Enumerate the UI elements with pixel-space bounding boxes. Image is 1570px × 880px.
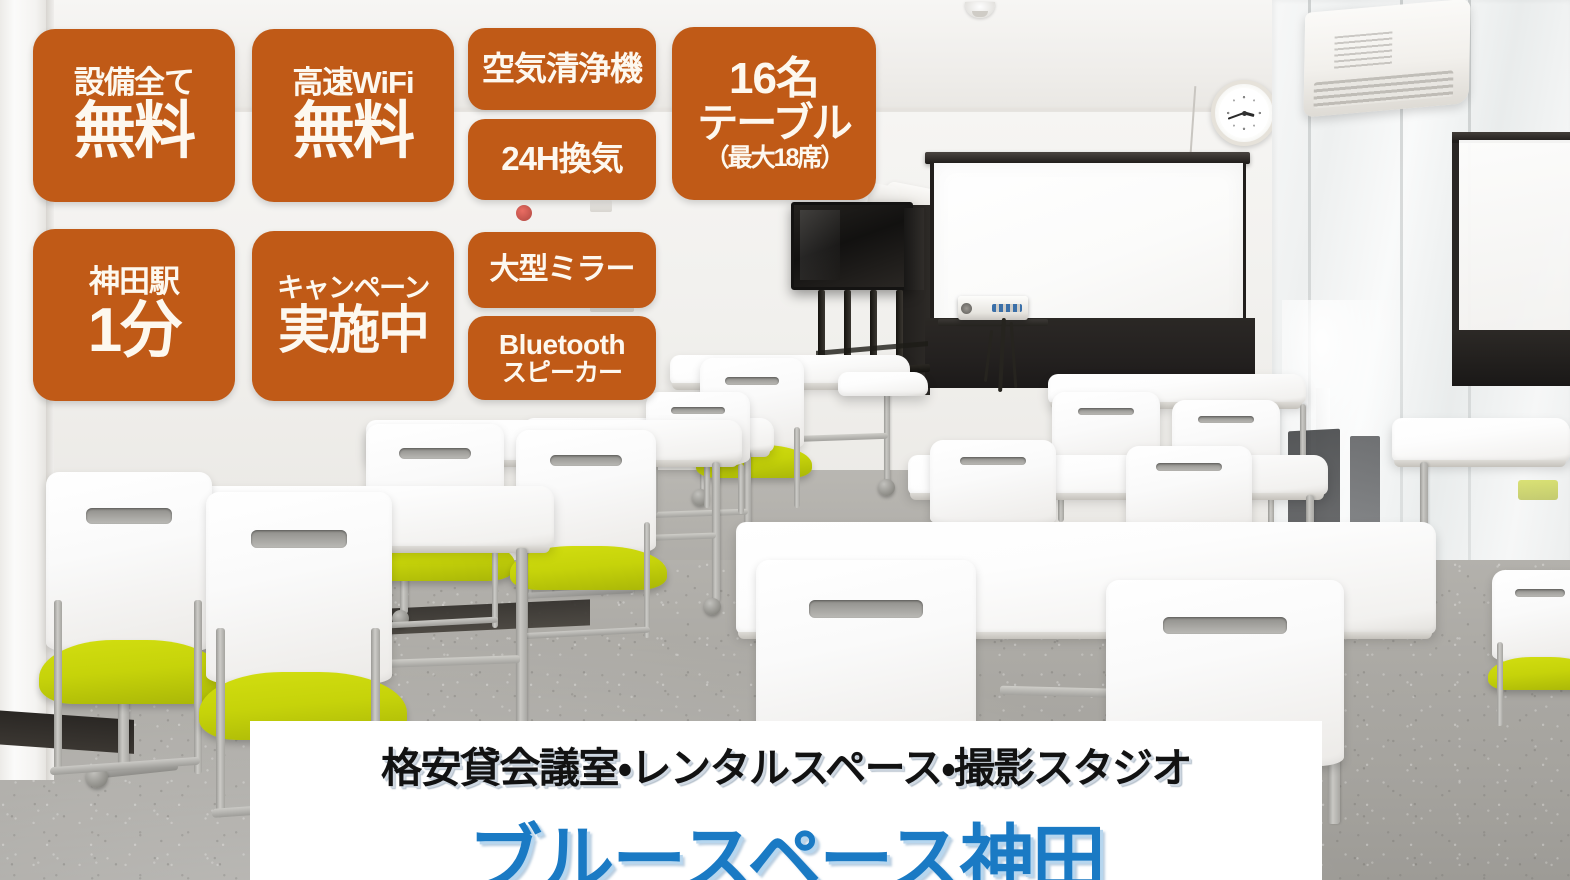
chair-handle-slot: [86, 508, 172, 524]
badge-station-distance[interactable]: 神田駅 1分: [33, 229, 235, 401]
clock-center-pin: [1242, 111, 1247, 116]
air-conditioner-vent: [1314, 70, 1454, 108]
feature-badges: 設備全て 無料 高速WiFi 無料 空気清浄機 24H換気 16名 テーブル （…: [0, 0, 700, 420]
table-caster: [878, 479, 895, 496]
chair-handle-slot: [550, 455, 623, 466]
table-caster: [704, 598, 721, 615]
chair-backrest: [1126, 446, 1252, 533]
chair-handle-slot: [1198, 416, 1254, 423]
table-leg: [516, 548, 527, 744]
table-top: [0, 700, 200, 760]
projector-lens-icon: [961, 303, 972, 314]
promo-banner: 設備全て 無料 高速WiFi 無料 空気清浄機 24H換気 16名 テーブル （…: [0, 0, 1570, 880]
badge-capacity-table: テーブル: [697, 102, 851, 145]
badge-large-mirror[interactable]: 大型ミラー: [468, 232, 656, 308]
badge-main-label: 無料: [74, 100, 194, 164]
badge-label: 空気清浄機: [482, 52, 642, 86]
badge-label-line1: Bluetooth: [499, 330, 625, 359]
projector: [958, 296, 1028, 320]
table: [1392, 418, 1570, 462]
chair-backrest: [930, 440, 1056, 527]
projection-screen-reflection: [1452, 140, 1570, 340]
badge-main-label: 実施中: [278, 304, 428, 358]
chair-handle-slot: [1078, 408, 1134, 415]
table-top: [1392, 418, 1570, 462]
badge-bluetooth-speaker[interactable]: Bluetooth スピーカー: [468, 316, 656, 400]
tv-side-panel: [904, 208, 924, 290]
screen-band-reflection: [1452, 330, 1570, 386]
badge-label: 24H換気: [501, 142, 623, 176]
chair-handle-slot: [725, 377, 779, 385]
projector-shelf: [938, 319, 1048, 326]
badge-capacity-count: 16名: [729, 56, 819, 102]
badge-main-label: 1分: [88, 299, 180, 363]
caption-bar: 格安貸会議室・レンタルスペース・撮影スタジオ ブルースペース神田: [250, 721, 1322, 880]
badge-capacity[interactable]: 16名 テーブル （最大18席）: [672, 27, 876, 200]
chair: [1492, 570, 1570, 720]
chair-frame: [794, 427, 800, 508]
badge-top-label: 高速WiFi: [292, 67, 413, 99]
mirror-reflected-chair-seat: [1518, 480, 1558, 500]
badge-air-purifier[interactable]: 空気清浄機: [468, 28, 656, 110]
badge-24h-ventilation[interactable]: 24H換気: [468, 119, 656, 200]
chair-handle-slot: [1156, 463, 1222, 471]
chair-backrest: [206, 492, 392, 684]
chair-backrest: [46, 472, 212, 652]
table: [838, 372, 928, 396]
badge-top-label: キャンペーン: [277, 274, 429, 302]
badge-capacity-max: （最大18席）: [705, 145, 844, 171]
badge-equipment-free[interactable]: 設備全て 無料: [33, 29, 235, 202]
chair-handle-slot: [1163, 617, 1287, 634]
clock-face: [1219, 88, 1269, 138]
chair-handle-slot: [399, 448, 471, 459]
chair-frame: [1497, 642, 1503, 726]
chair-frame: [216, 628, 225, 814]
wall-mounted-tv: [791, 202, 913, 290]
chair-handle-slot: [1515, 589, 1565, 597]
badge-top-label: 設備全て: [74, 67, 194, 99]
chair-handle-slot: [960, 457, 1026, 465]
badge-top-label: 神田駅: [89, 266, 179, 298]
chair-backrest: [1492, 570, 1570, 663]
tv-screen-glare: [800, 210, 840, 280]
badge-main-label: 無料: [293, 100, 413, 164]
wall-clock: [1211, 80, 1277, 146]
chair-frame: [644, 522, 650, 638]
badge-wifi-free[interactable]: 高速WiFi 無料: [252, 29, 454, 202]
caption-subtitle: 格安貸会議室・レンタルスペース・撮影スタジオ: [381, 734, 1191, 794]
badge-label-line2: スピーカー: [502, 360, 622, 386]
projector-ports: [992, 304, 1022, 312]
table-top: [838, 372, 928, 396]
air-conditioner-label: [1334, 31, 1392, 70]
badge-label: 大型ミラー: [490, 254, 635, 285]
badge-campaign[interactable]: キャンペーン 実施中: [252, 231, 454, 401]
chair-handle-slot: [251, 530, 348, 547]
air-conditioner: [1303, 0, 1470, 118]
chair-frame: [738, 464, 744, 514]
chair-handle-slot: [809, 600, 923, 618]
caption-title: ブルースペース神田: [468, 800, 1103, 880]
